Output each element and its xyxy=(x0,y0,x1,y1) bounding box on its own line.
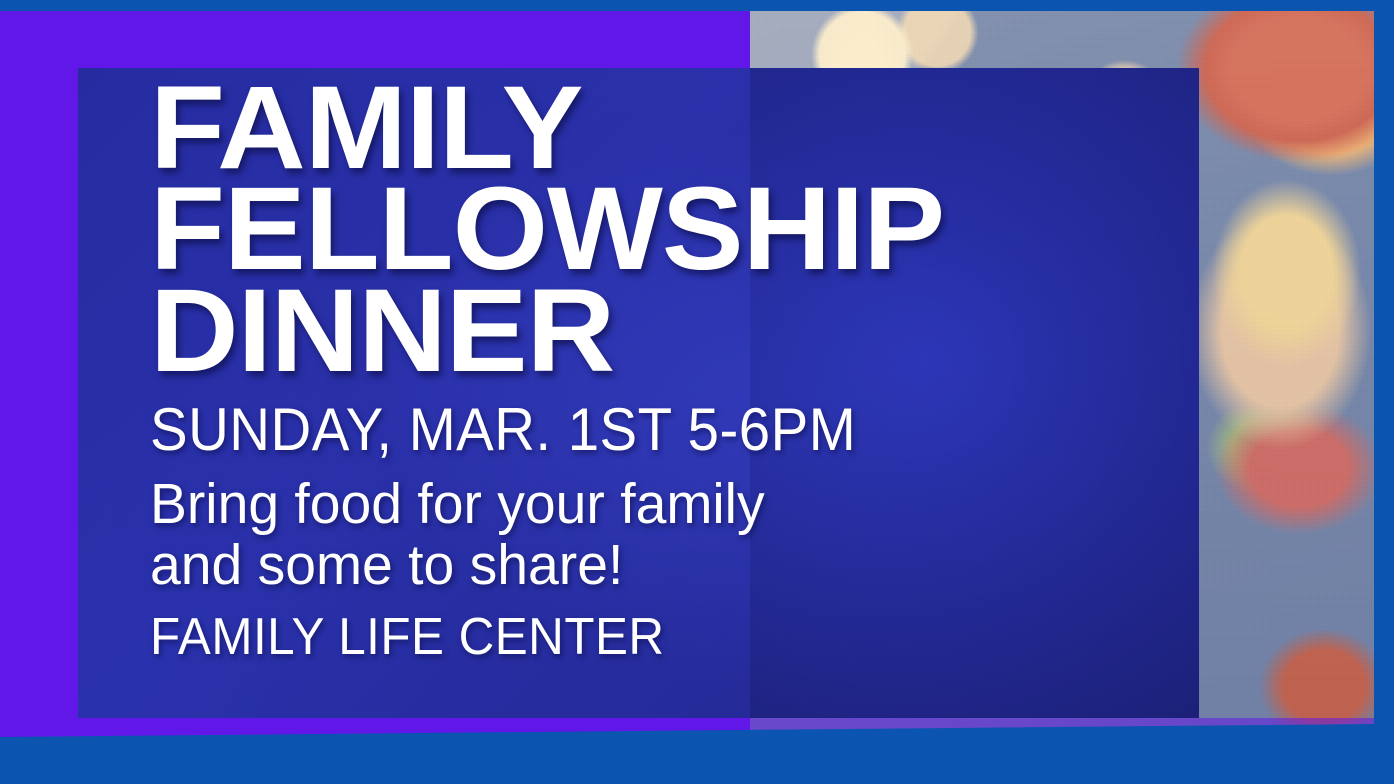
event-datetime: SUNDAY, MAR. 1ST 5-6PM xyxy=(150,400,1052,460)
poster-canvas: FAMILY FELLOWSHIP DINNER SUNDAY, MAR. 1S… xyxy=(0,0,1394,784)
event-instructions: Bring food for your family and some to s… xyxy=(150,474,1081,595)
event-venue: FAMILY LIFE CENTER xyxy=(150,611,1062,663)
poster-text-block: FAMILY FELLOWSHIP DINNER SUNDAY, MAR. 1S… xyxy=(150,78,1110,663)
poster-headline: FAMILY FELLOWSHIP DINNER xyxy=(150,78,1148,382)
